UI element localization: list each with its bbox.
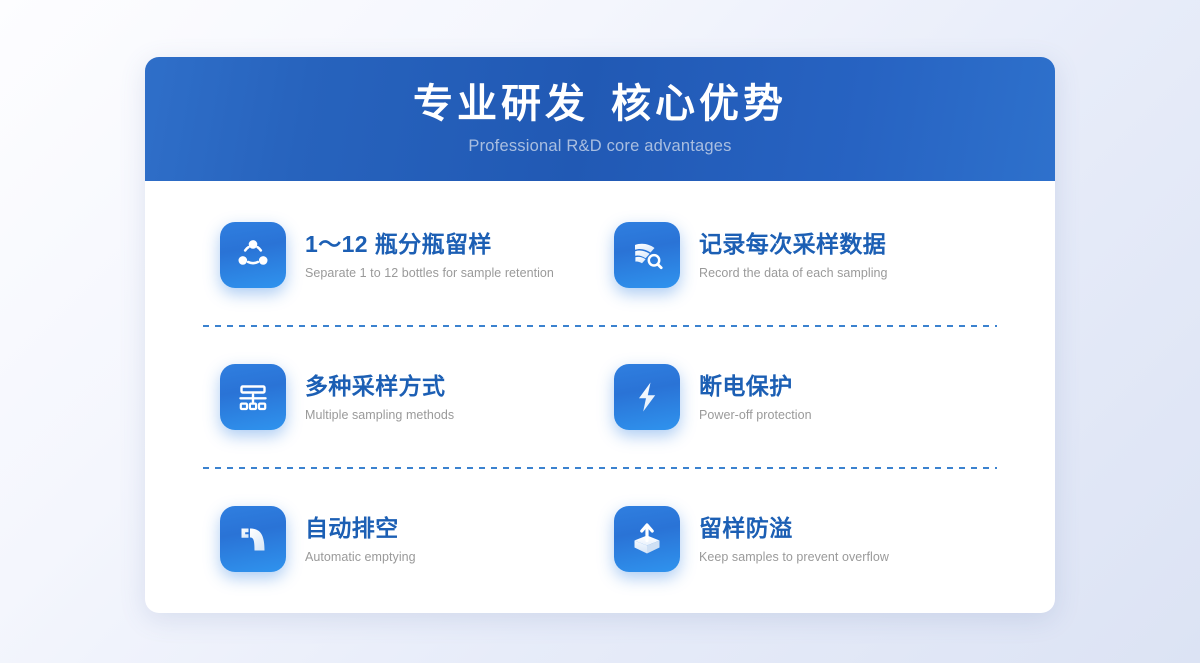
page-title: 专业研发核心优势 <box>413 82 787 128</box>
features-grid: 1～12 瓶分瓶留样 Separate 1 to 12 bottles for … <box>145 181 1055 613</box>
box-upload-arrow-icon <box>614 506 680 572</box>
dashed-divider <box>203 467 997 469</box>
feature-text: 自动排空 Automatic emptying <box>305 514 416 564</box>
feature-description: Record the data of each sampling <box>699 266 888 280</box>
lightning-bolt-icon <box>614 364 680 430</box>
feature-title: 断电保护 <box>699 372 812 401</box>
feature-text: 断电保护 Power-off protection <box>699 372 812 422</box>
feature-text: 1～12 瓶分瓶留样 Separate 1 to 12 bottles for … <box>305 230 554 280</box>
feature-description: Automatic emptying <box>305 550 416 564</box>
divider-2-wrap <box>203 445 997 492</box>
feature-title: 多种采样方式 <box>305 372 454 401</box>
feature-text: 留样防溢 Keep samples to prevent overflow <box>699 514 889 564</box>
feature-title: 留样防溢 <box>699 514 889 543</box>
feature-row-2: 多种采样方式 Multiple sampling methods <box>203 350 997 445</box>
feature-description: Multiple sampling methods <box>305 408 454 422</box>
feature-title: 1～12 瓶分瓶留样 <box>305 230 554 259</box>
feature-text: 多种采样方式 Multiple sampling methods <box>305 372 454 422</box>
feature-row-3: 自动排空 Automatic emptying <box>203 492 997 587</box>
feature-description: Separate 1 to 12 bottles for sample rete… <box>305 266 554 280</box>
page-title-part2: 核心优势 <box>611 80 787 127</box>
feature-title: 自动排空 <box>305 514 416 543</box>
feature-item-overflow-prevention[interactable]: 留样防溢 Keep samples to prevent overflow <box>600 506 997 572</box>
feature-title: 记录每次采样数据 <box>699 230 888 259</box>
page-title-part1: 专业研发 <box>413 80 589 127</box>
feature-description: Keep samples to prevent overflow <box>699 550 889 564</box>
drain-pipe-icon <box>220 506 286 572</box>
page-subtitle: Professional R&D core advantages <box>468 137 731 156</box>
feature-item-auto-emptying[interactable]: 自动排空 Automatic emptying <box>203 506 600 572</box>
sliders-settings-icon <box>220 364 286 430</box>
feature-row-1: 1～12 瓶分瓶留样 Separate 1 to 12 bottles for … <box>203 208 997 303</box>
feature-item-power-protection[interactable]: 断电保护 Power-off protection <box>600 364 997 430</box>
dashed-divider <box>203 325 997 327</box>
feature-item-record-data[interactable]: 记录每次采样数据 Record the data of each samplin… <box>600 222 997 288</box>
card-header: 专业研发核心优势 Professional R&D core advantage… <box>145 57 1055 181</box>
advantages-card: 专业研发核心优势 Professional R&D core advantage… <box>145 57 1055 613</box>
feature-item-sample-retention[interactable]: 1～12 瓶分瓶留样 Separate 1 to 12 bottles for … <box>203 222 600 288</box>
feature-description: Power-off protection <box>699 408 812 422</box>
feature-text: 记录每次采样数据 Record the data of each samplin… <box>699 230 888 280</box>
feature-item-sampling-methods[interactable]: 多种采样方式 Multiple sampling methods <box>203 364 600 430</box>
divider-1-wrap <box>203 303 997 350</box>
share-nodes-icon <box>220 222 286 288</box>
data-pages-search-icon <box>614 222 680 288</box>
